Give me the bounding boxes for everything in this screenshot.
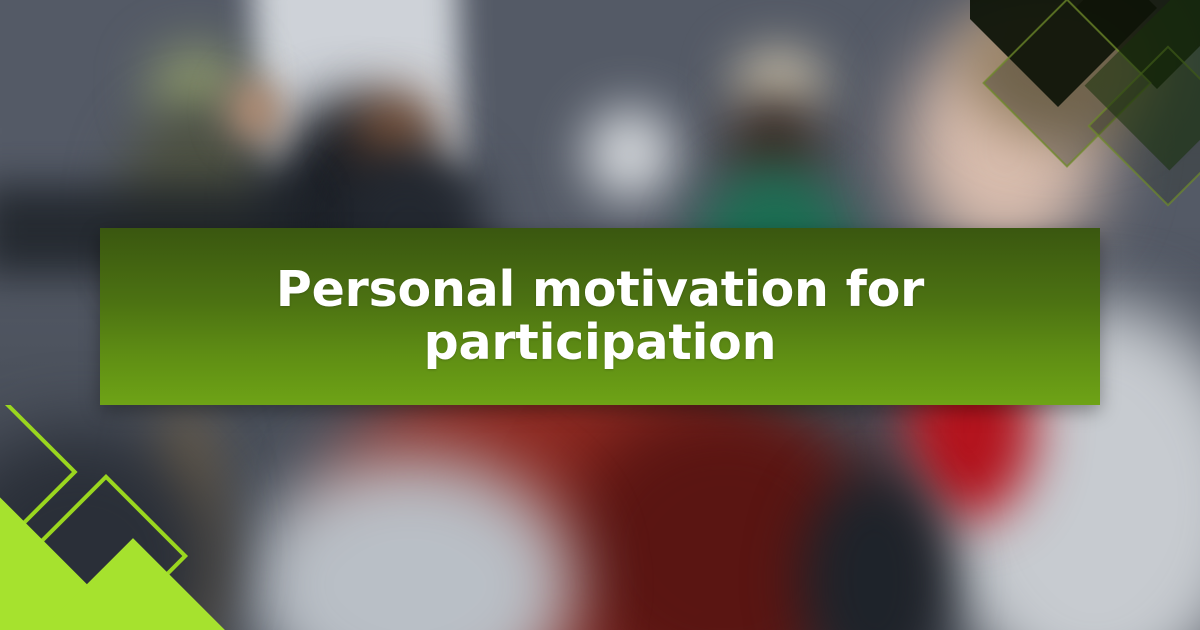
photo-blob-white-circle <box>585 108 675 200</box>
photo-blob-hand-raised <box>228 78 282 142</box>
promo-banner-image: Personal motivation for participation <box>0 0 1200 630</box>
page-title: Personal motivation for participation <box>100 264 1100 370</box>
title-banner: Personal motivation for participation <box>100 228 1100 405</box>
